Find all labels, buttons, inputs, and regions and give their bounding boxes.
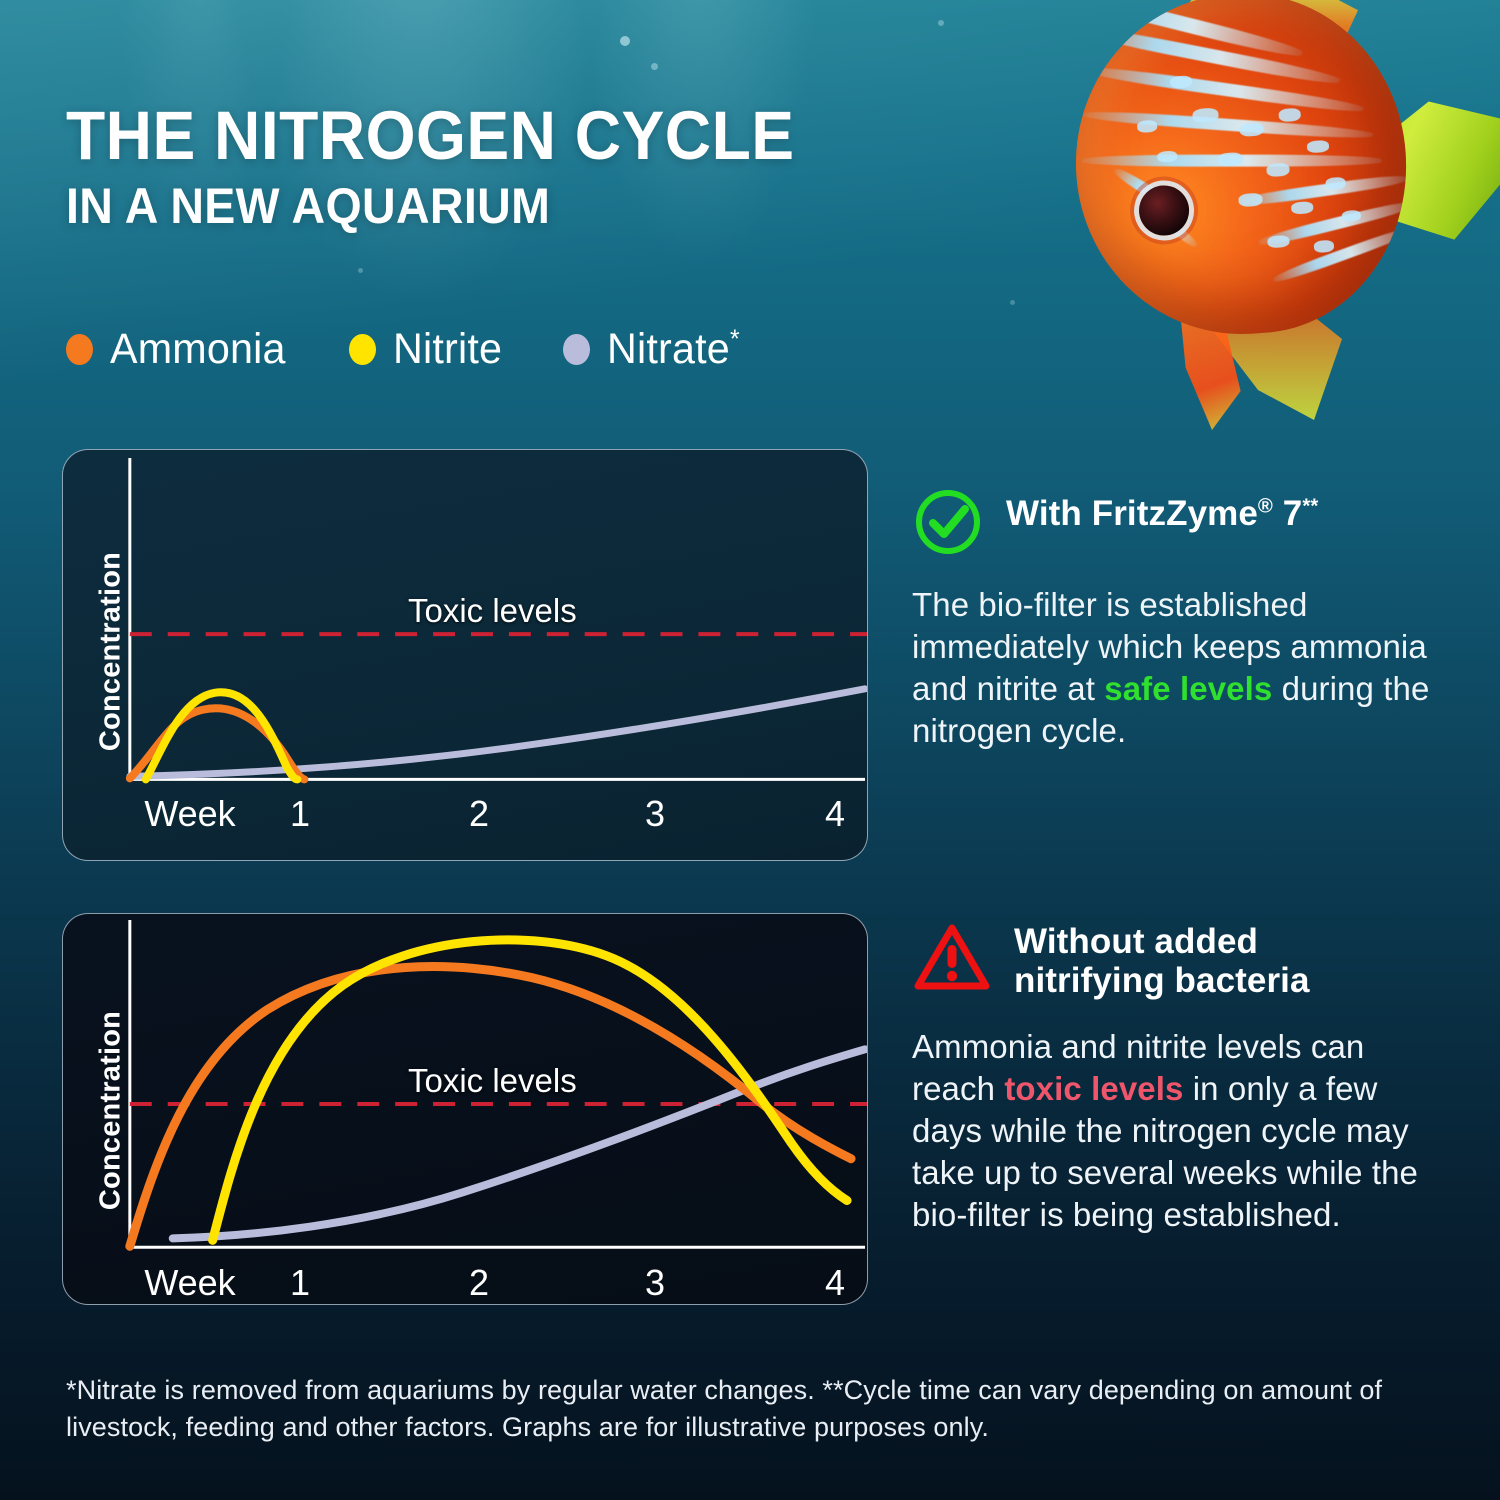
discus-fish-photo xyxy=(1048,0,1500,452)
callout-without-bacteria: Without addednitrifying bacteria Ammonia… xyxy=(912,918,1432,1236)
legend-dot-ammonia xyxy=(66,334,93,365)
callout-1-body: The bio-filter is established immediatel… xyxy=(912,584,1432,752)
chart-2-tick-week: Week xyxy=(125,1262,255,1304)
callout-2-heading-row: Without addednitrifying bacteria xyxy=(912,918,1432,1000)
callout-with-fritzzyme: With FritzZyme® 7** The bio-filter is es… xyxy=(912,490,1432,752)
fish-body xyxy=(1065,0,1418,345)
bubble xyxy=(651,63,658,70)
safe-levels-highlight: safe levels xyxy=(1104,670,1272,707)
warning-triangle-icon xyxy=(912,920,992,994)
legend-item-ammonia: Ammonia xyxy=(66,325,293,374)
callout-1-heading-row: With FritzZyme® 7** xyxy=(912,490,1432,558)
chart-1-toxic-label: Toxic levels xyxy=(408,592,577,630)
chart-2-toxic-label: Toxic levels xyxy=(408,1062,577,1100)
footnote: *Nitrate is removed from aquariums by re… xyxy=(66,1372,1386,1445)
chart-2-tick-1: 1 xyxy=(273,1262,327,1304)
title-line-2: IN A NEW AQUARIUM xyxy=(66,181,996,231)
chart-1-tick-3: 3 xyxy=(628,793,682,835)
chart-1-tick-4: 4 xyxy=(808,793,862,835)
bubble xyxy=(1010,300,1015,305)
chart-2-tick-2: 2 xyxy=(452,1262,506,1304)
bubble xyxy=(938,20,944,26)
callout-2-heading: Without addednitrifying bacteria xyxy=(1014,918,1310,1000)
callout-1-heading: With FritzZyme® 7** xyxy=(1006,490,1318,533)
legend-label-nitrate: Nitrate* xyxy=(607,325,740,374)
chart-1-tick-week: Week xyxy=(125,793,255,835)
legend-label-nitrite: Nitrite xyxy=(393,325,502,374)
chart-1-y-axis-label: Concentration xyxy=(95,542,128,762)
chart-2-y-axis-label: Concentration xyxy=(95,1001,128,1221)
series-legend: Ammonia Nitrite Nitrate* xyxy=(66,325,745,374)
chart-2-ammonia-curve xyxy=(130,967,851,1247)
bubble xyxy=(620,36,630,46)
legend-item-nitrate: Nitrate* xyxy=(563,325,745,374)
chart-1-tick-1: 1 xyxy=(273,793,327,835)
title-line-1: THE NITROGEN CYCLE xyxy=(66,103,996,169)
legend-dot-nitrate xyxy=(563,334,590,365)
chart-2-svg xyxy=(63,914,867,1304)
bubble xyxy=(358,268,363,273)
check-circle-icon xyxy=(912,486,984,558)
chart-panel-with-fritzzyme: Concentration Toxic levels Week 1 2 3 4 xyxy=(62,449,868,861)
chart-1-tick-2: 2 xyxy=(452,793,506,835)
legend-dot-nitrite xyxy=(349,334,376,365)
page-title: THE NITROGEN CYCLE IN A NEW AQUARIUM xyxy=(66,103,1066,231)
nitrate-asterisk: * xyxy=(730,326,740,354)
legend-label-ammonia: Ammonia xyxy=(110,325,286,374)
toxic-levels-highlight: toxic levels xyxy=(1004,1070,1183,1107)
callout-2-body: Ammonia and nitrite levels can reach tox… xyxy=(912,1026,1432,1236)
chart-panel-without-bacteria: Concentration Toxic levels Week 1 2 3 4 xyxy=(62,913,868,1305)
chart-2-tick-4: 4 xyxy=(808,1262,862,1304)
chart-2-tick-3: 3 xyxy=(628,1262,682,1304)
legend-item-nitrite: Nitrite xyxy=(349,325,507,374)
